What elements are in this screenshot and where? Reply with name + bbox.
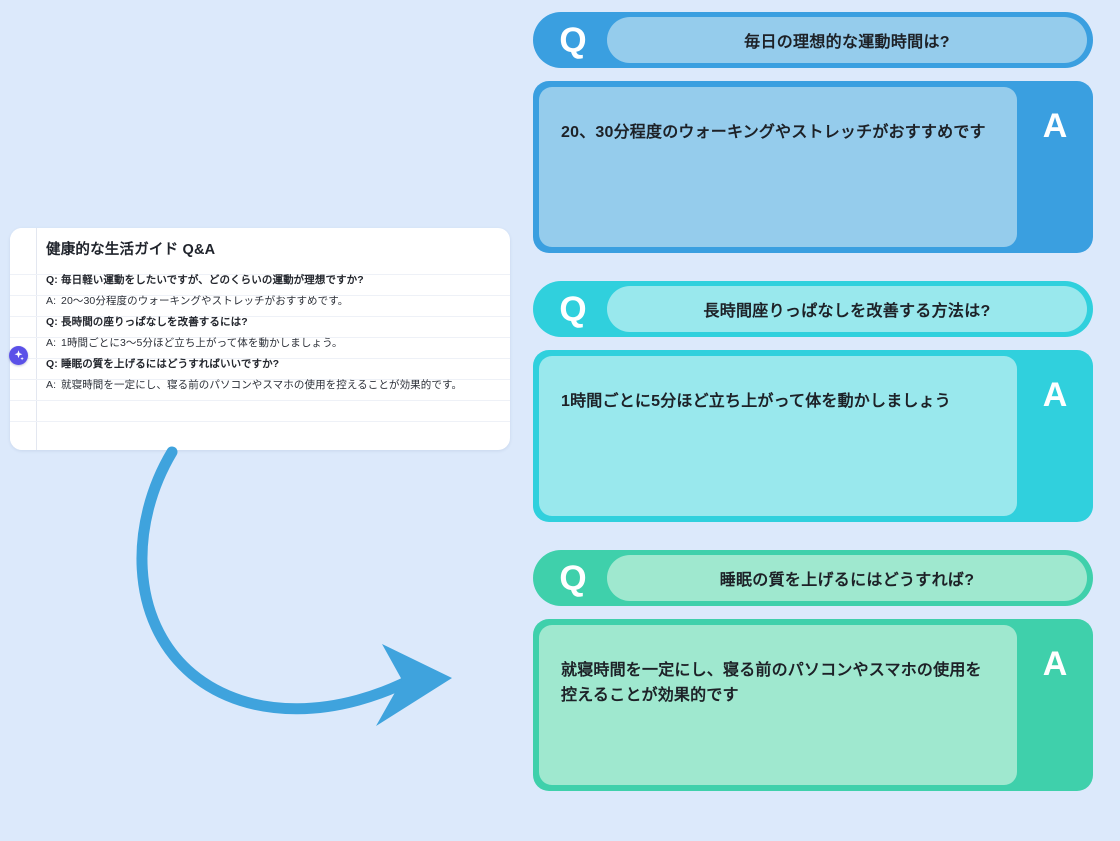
line-label: A: bbox=[46, 375, 61, 396]
document-line-q3: Q:睡眠の質を上げるにはどうすればいいですか? bbox=[46, 354, 496, 375]
line-label: Q: bbox=[46, 270, 61, 291]
answer-card-2[interactable]: 1時間ごとに5分ほど立ち上がって体を動かしましょう A bbox=[533, 350, 1093, 522]
q-mark-3: Q bbox=[533, 561, 607, 596]
line-text: 睡眠の質を上げるにはどうすればいいですか? bbox=[61, 358, 279, 370]
document-line-a2: A:1時間ごとに3〜5分ほど立ち上がって体を動かしましょう。 bbox=[46, 333, 496, 354]
line-label: A: bbox=[46, 333, 61, 354]
document-body: 健康的な生活ガイド Q&A Q:毎日軽い運動をしたいですが、どのくらいの運動が理… bbox=[36, 228, 510, 450]
q-mark-2: Q bbox=[533, 292, 607, 327]
line-text: 20〜30分程度のウォーキングやストレッチがおすすめです。 bbox=[61, 295, 348, 307]
question-text-3: 睡眠の質を上げるにはどうすれば? bbox=[607, 555, 1087, 601]
document-line-a3: A:就寝時間を一定にし、寝る前のパソコンやスマホの使用を控えることが効果的です。 bbox=[46, 375, 496, 396]
line-label: Q: bbox=[46, 354, 61, 375]
answer-card-3[interactable]: 就寝時間を一定にし、寝る前のパソコンやスマホの使用を控えることが効果的です A bbox=[533, 619, 1093, 791]
question-text-1: 毎日の理想的な運動時間は? bbox=[607, 17, 1087, 63]
line-label: A: bbox=[46, 291, 61, 312]
answer-card-1[interactable]: 20、30分程度のウォーキングやストレッチがおすすめです A bbox=[533, 81, 1093, 253]
a-mark-1: A bbox=[1017, 81, 1093, 253]
line-text: 就寝時間を一定にし、寝る前のパソコンやスマホの使用を控えることが効果的です。 bbox=[61, 379, 462, 391]
question-text-2: 長時間座りっぱなしを改善する方法は? bbox=[607, 286, 1087, 332]
question-pill-3[interactable]: Q 睡眠の質を上げるにはどうすれば? bbox=[533, 550, 1093, 606]
document-title: 健康的な生活ガイド Q&A bbox=[46, 242, 496, 259]
document-line-q2: Q:長時間の座りっぱなしを改善するには? bbox=[46, 312, 496, 333]
a-mark-3: A bbox=[1017, 619, 1093, 791]
question-pill-2[interactable]: Q 長時間座りっぱなしを改善する方法は? bbox=[533, 281, 1093, 337]
question-pill-1[interactable]: Q 毎日の理想的な運動時間は? bbox=[533, 12, 1093, 68]
q-mark-1: Q bbox=[533, 23, 607, 58]
qa-card-3[interactable]: Q 睡眠の質を上げるにはどうすれば? 就寝時間を一定にし、寝る前のパソコンやスマ… bbox=[533, 550, 1093, 791]
line-label: Q: bbox=[46, 312, 61, 333]
answer-text-1: 20、30分程度のウォーキングやストレッチがおすすめです bbox=[539, 87, 1017, 247]
line-text: 長時間の座りっぱなしを改善するには? bbox=[61, 316, 248, 328]
curved-arrow bbox=[100, 430, 520, 750]
answer-text-3: 就寝時間を一定にし、寝る前のパソコンやスマホの使用を控えることが効果的です bbox=[539, 625, 1017, 785]
line-text: 1時間ごとに3〜5分ほど立ち上がって体を動かしましょう。 bbox=[61, 337, 343, 349]
qa-card-1[interactable]: Q 毎日の理想的な運動時間は? 20、30分程度のウォーキングやストレッチがおす… bbox=[533, 12, 1093, 253]
document-line-a1: A:20〜30分程度のウォーキングやストレッチがおすすめです。 bbox=[46, 291, 496, 312]
answer-text-2: 1時間ごとに5分ほど立ち上がって体を動かしましょう bbox=[539, 356, 1017, 516]
qa-card-2[interactable]: Q 長時間座りっぱなしを改善する方法は? 1時間ごとに5分ほど立ち上がって体を動… bbox=[533, 281, 1093, 522]
qa-card-list: Q 毎日の理想的な運動時間は? 20、30分程度のウォーキングやストレッチがおす… bbox=[533, 12, 1093, 819]
document-line-q1: Q:毎日軽い運動をしたいですが、どのくらいの運動が理想ですか? bbox=[46, 270, 496, 291]
sparkle-icon[interactable] bbox=[9, 346, 28, 365]
line-text: 毎日軽い運動をしたいですが、どのくらいの運動が理想ですか? bbox=[61, 274, 364, 286]
source-document-card[interactable]: 健康的な生活ガイド Q&A Q:毎日軽い運動をしたいですが、どのくらいの運動が理… bbox=[10, 228, 510, 450]
document-gutter bbox=[10, 228, 37, 450]
a-mark-2: A bbox=[1017, 350, 1093, 522]
